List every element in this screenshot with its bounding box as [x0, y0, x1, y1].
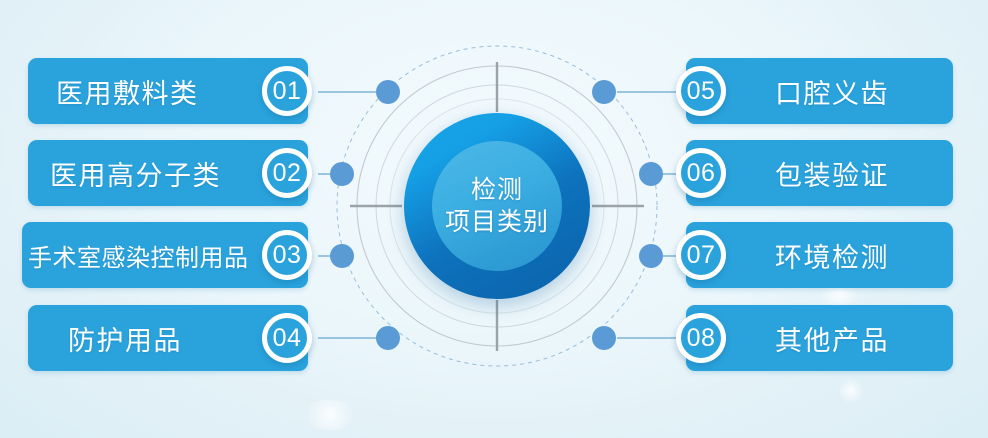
category-label-08: 其他产品 [775, 305, 889, 371]
category-label-01: 医用敷料类 [56, 58, 199, 124]
category-badge-08[interactable]: 08 [676, 313, 726, 363]
category-label-05: 口腔义齿 [775, 58, 889, 124]
category-badge-02[interactable]: 02 [262, 148, 312, 198]
center-core: 检测 项目类别 [404, 113, 590, 299]
category-badge-07[interactable]: 07 [676, 230, 726, 280]
category-badge-03[interactable]: 03 [262, 230, 312, 280]
category-label-03: 手术室感染控制用品 [28, 222, 249, 288]
category-badge-05[interactable]: 05 [676, 66, 726, 116]
category-badge-01[interactable]: 01 [262, 66, 312, 116]
category-badge-06[interactable]: 06 [676, 148, 726, 198]
category-label-04: 防护用品 [68, 305, 182, 371]
category-label-07: 环境检测 [775, 222, 889, 288]
center-core-inner: 检测 项目类别 [432, 141, 562, 271]
category-badge-04[interactable]: 04 [262, 313, 312, 363]
category-label-02: 医用高分子类 [50, 140, 221, 206]
diagram-canvas: 检测 项目类别 医用敷料类 01 医用高分子类 02 手术室感染控制用品 03 … [0, 0, 988, 438]
center-title-line1: 检测 [471, 174, 523, 206]
category-label-06: 包装验证 [775, 140, 889, 206]
center-title-line2: 项目类别 [445, 206, 549, 238]
